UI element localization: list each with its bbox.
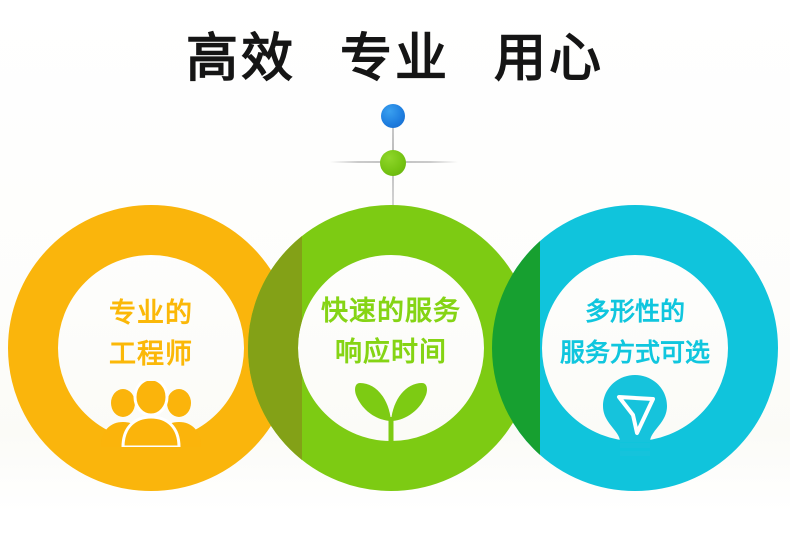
circle-text-service-modes: 多形性的 服务方式可选 — [492, 291, 778, 373]
circle-text-line-2: 服务方式可选 — [492, 332, 778, 373]
green-dot-icon — [380, 150, 406, 176]
lightbulb-icon — [492, 373, 778, 463]
blue-dot-icon — [381, 104, 405, 128]
circle-text-line-1: 多形性的 — [492, 291, 778, 332]
page-title: 高效专业用心 — [0, 28, 790, 90]
promotional-banner: 高效专业用心 专业的 工程师 — [0, 0, 790, 557]
circle-content-service-modes: 多形性的 服务方式可选 — [492, 205, 778, 491]
headline-word-2: 专业 — [340, 28, 450, 90]
pin-marker-decoration — [330, 104, 460, 219]
headline-word-3: 用心 — [494, 28, 604, 90]
headline-word-1: 高效 — [186, 28, 296, 90]
